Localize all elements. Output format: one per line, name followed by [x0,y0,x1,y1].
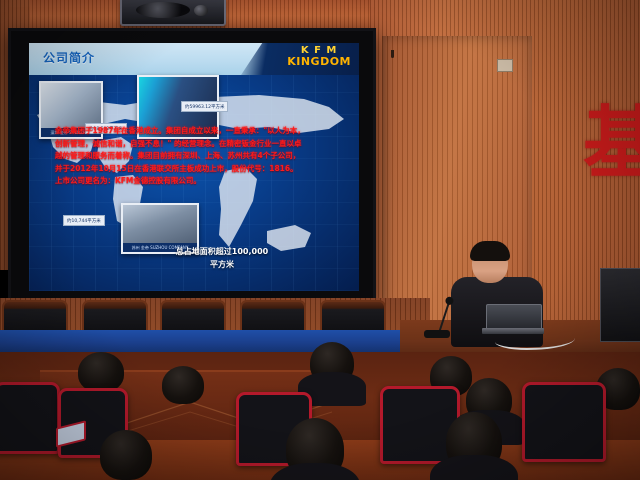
slide-canvas: 公司简介 K F M KINGDOM [29,43,359,291]
logo-line-2: KINGDOM [287,56,351,67]
slide-bottom-caption: 总占地面积超过100,000 平方米 [147,245,297,271]
presentation-room-photo: 基 公司简介 K F M KINGDOM [0,0,640,480]
audience-person [162,366,204,404]
auditorium-seat[interactable] [0,382,60,454]
audience-head [162,366,204,404]
microphone-base [424,330,450,338]
speaker-box [600,268,640,342]
door-hook-icon [391,50,394,58]
caption-line-1: 总占地面积超过100,000 [147,245,297,258]
ceiling-projector-icon [120,0,226,26]
building-area-label-2: 约59963.12平方米 [181,101,228,112]
door-plate-sign [497,59,513,72]
projector-lens-icon [194,5,208,16]
caption-line-2: 平方米 [147,258,297,271]
auditorium-seat[interactable] [522,382,606,462]
audience-person [78,352,124,392]
audience-person [286,418,344,480]
audience-person [446,412,502,472]
presenter-hair [470,241,510,261]
company-logo: K F M KINGDOM [287,46,351,67]
slide-title: 公司简介 [43,49,95,66]
audience-person [310,342,354,384]
audience-head [78,352,124,392]
projection-screen: 公司简介 K F M KINGDOM [8,28,376,304]
audience-head [100,430,152,480]
audience-person [100,430,152,480]
building-area-label-3: 约10,744平方米 [63,215,105,226]
slide-body: 深圳 金帝 SHENZHEN COMPANY 苏州 金帝 SUZHOU COMP… [29,75,359,291]
laptop-screen [486,304,542,330]
slide-body-text: 金帝集团于1987年在香港成立。集团自成立以来，一直秉承："以人为本，创新管理，… [55,125,305,188]
wall-chinese-character: 基 [583,92,639,202]
